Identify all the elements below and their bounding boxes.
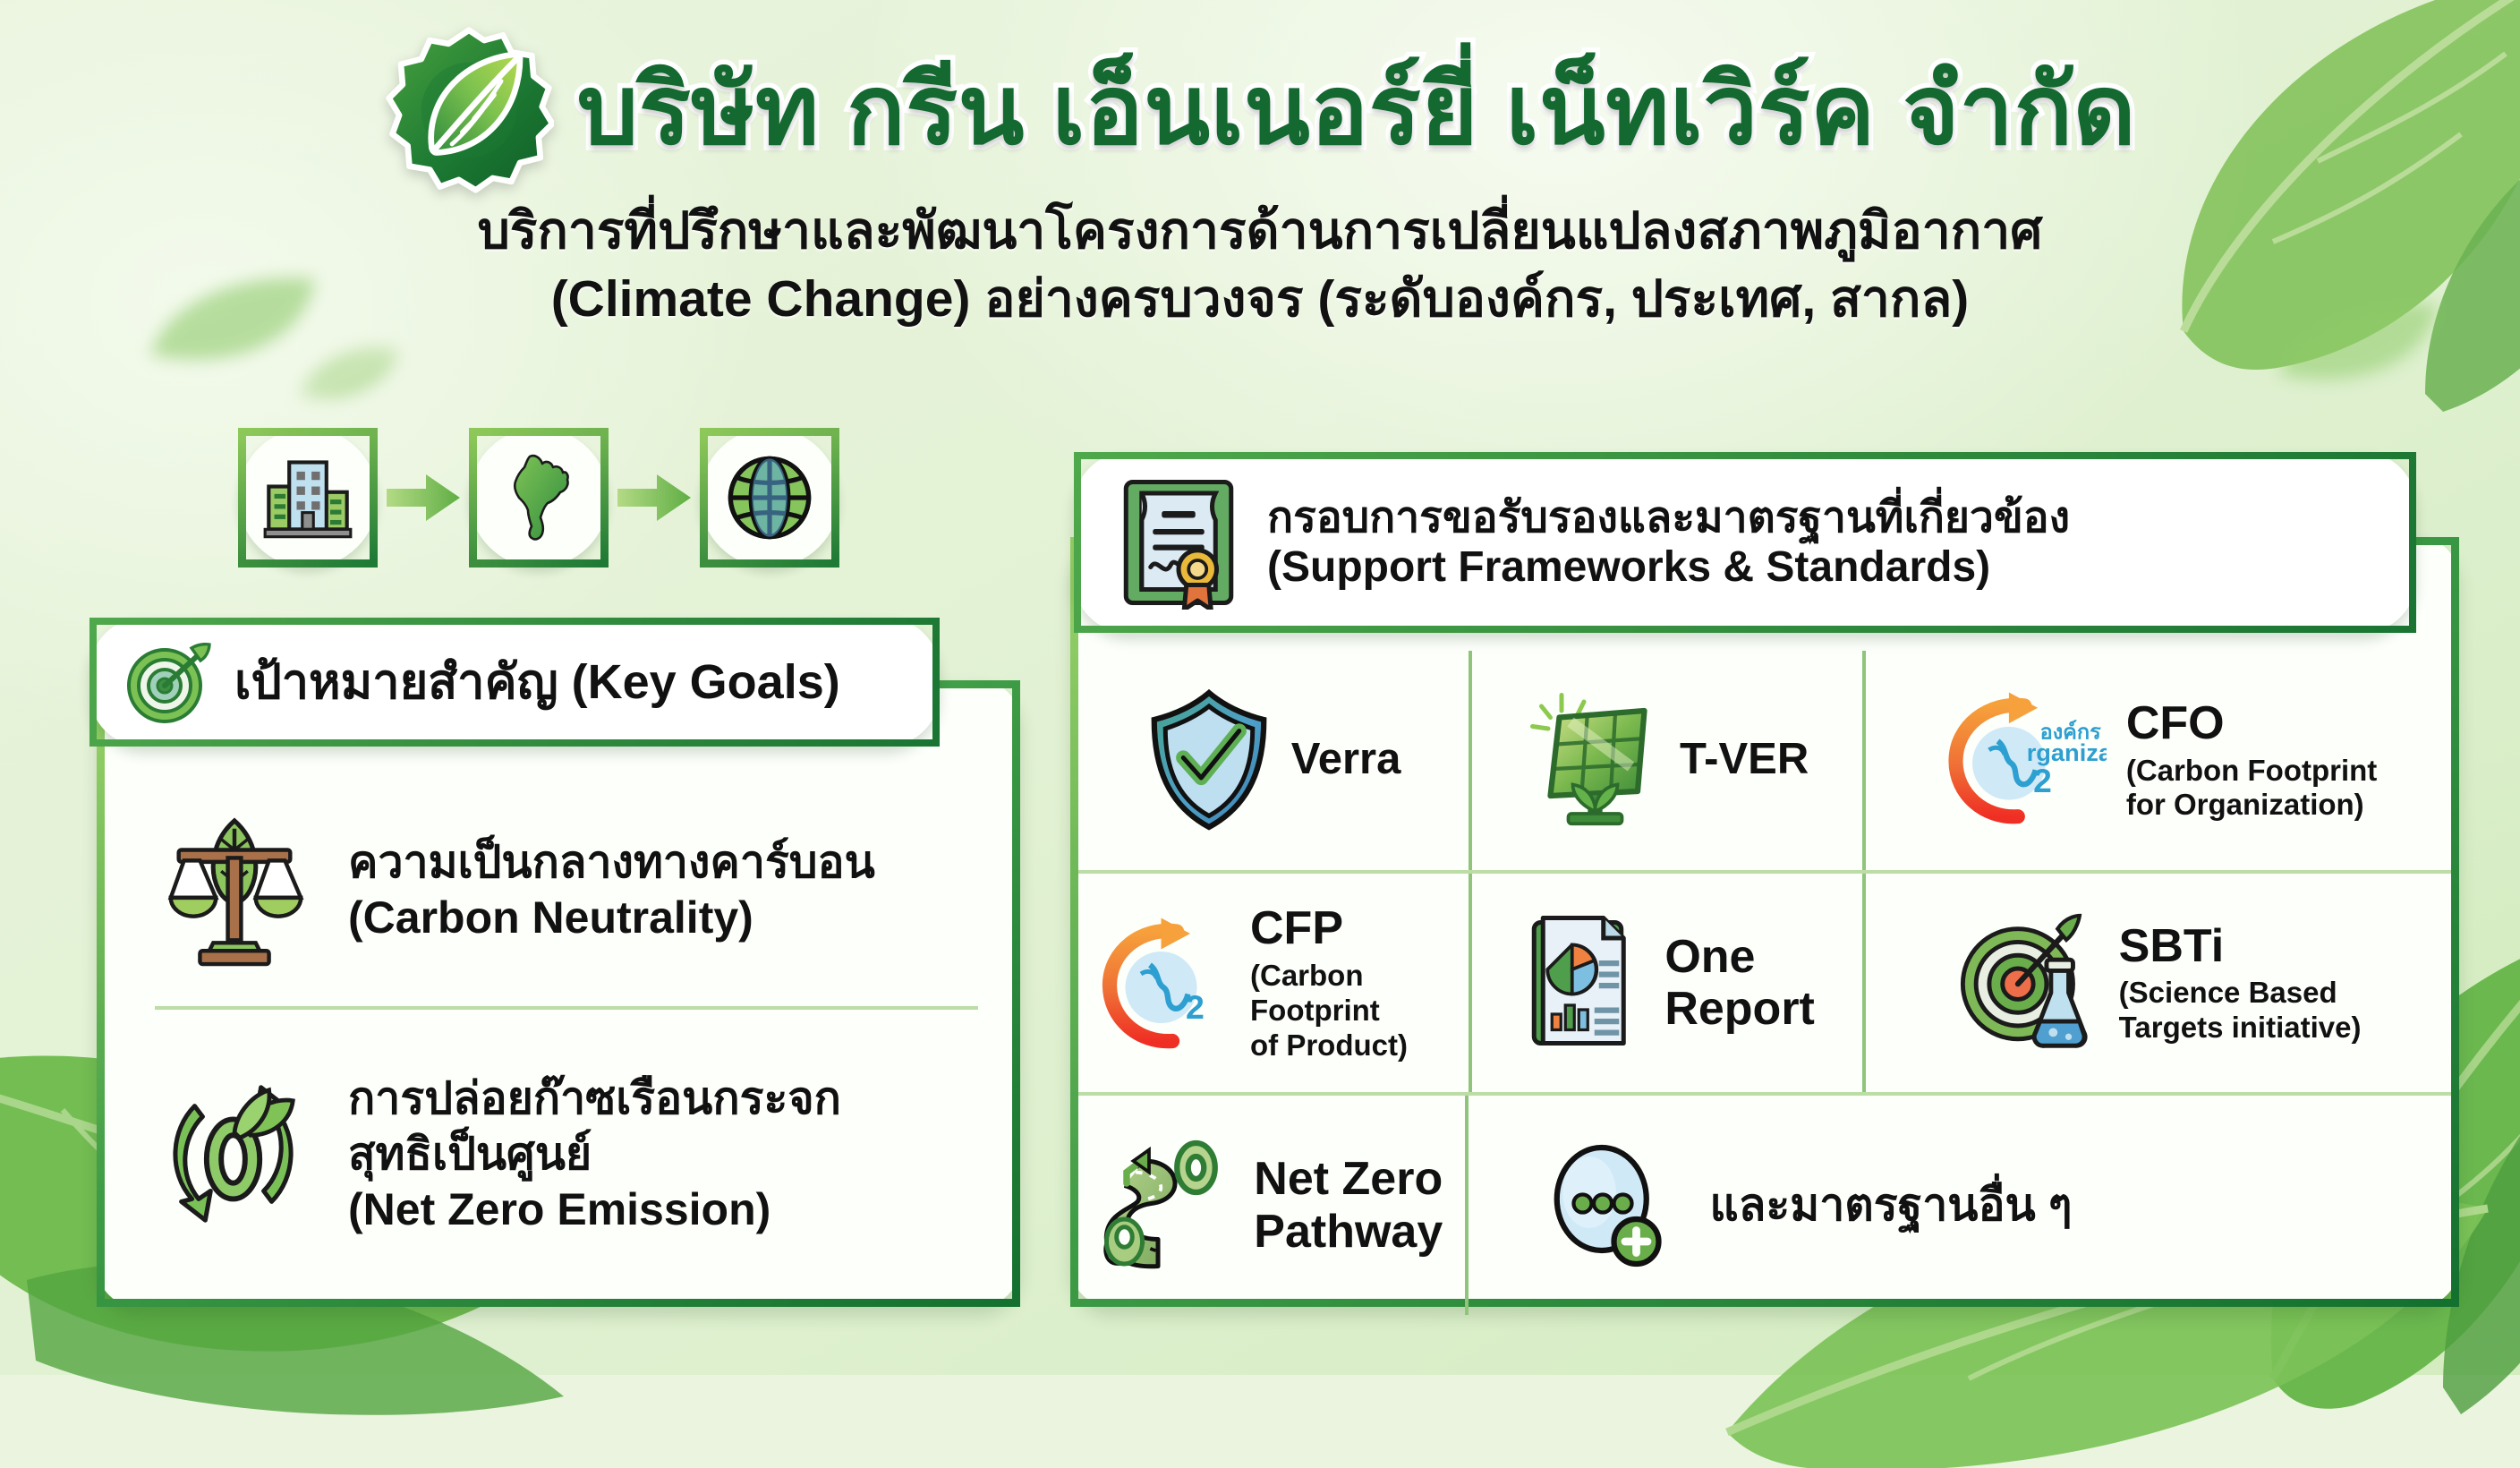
standard-cell-verra[interactable]: Verra <box>1078 651 1469 870</box>
standards-grid: Verra <box>1078 651 2451 1315</box>
svg-text:2: 2 <box>1186 988 1205 1026</box>
key-goals-card: ความเป็นกลางทางคาร์บอน (Carbon Neutralit… <box>97 680 1020 1307</box>
cfo-subtitle: (Carbon Footprint for Organization) <box>2126 754 2377 824</box>
cfo-text: CFO (Carbon Footprint for Organization) <box>2126 697 2377 823</box>
co2-organization-icon: 2 องค์กร rganization <box>1940 690 2107 830</box>
key-goals-divider <box>155 1006 978 1010</box>
key-goal-2-text: การปล่อยก๊าซเรือนกระจก สุทธิเป็นศูนย์ (N… <box>348 1071 841 1237</box>
svg-text:2: 2 <box>2033 762 2052 799</box>
target-flask-icon <box>1956 911 2099 1054</box>
globe-icon <box>723 451 816 544</box>
standards-title-line1: กรอบการขอรับรองและมาตรฐานที่เกี่ยวข้อง <box>1267 493 2070 542</box>
thailand-map-icon <box>494 451 583 544</box>
key-goal-2-line3: (Net Zero Emission) <box>348 1182 841 1237</box>
tver-title: T-VER <box>1680 736 1809 784</box>
key-goal-1-line2: (Carbon Neutrality) <box>348 890 875 945</box>
tver-text: T-VER <box>1680 736 1809 784</box>
cfp-text: CFP (Carbon Footprint of Product) <box>1250 902 1451 1063</box>
key-goals-title: เป้าหมายสำคัญ (Key Goals) <box>234 654 840 710</box>
arrow-right-icon-1 <box>385 471 462 525</box>
page-title: บริษัท กรีน เอ็นเนอร์ยี่ เน็ทเวิร์ค จำกั… <box>577 59 2136 160</box>
key-goal-item-2[interactable]: การปล่อยก๊าซเรือนกระจก สุทธิเป็นศูนย์ (N… <box>105 1037 891 1270</box>
leaf-blur-2 <box>295 340 403 412</box>
sbti-text: SBTi (Science Based Targets initiative) <box>2119 920 2362 1046</box>
co2-product-icon: 2 <box>1096 916 1230 1050</box>
cfo-icon-label-en: rganization <box>2027 739 2107 767</box>
standards-row-1: Verra <box>1078 651 2451 870</box>
scope-step-organization[interactable] <box>238 428 378 568</box>
standard-cell-net-zero-pathway[interactable]: Net Zero Pathway <box>1078 1096 1465 1315</box>
key-goal-item-1[interactable]: ความเป็นกลางทางคาร์บอน (Carbon Neutralit… <box>105 787 925 993</box>
standard-cell-tver[interactable]: T-VER <box>1469 651 1862 870</box>
cfp-subtitle: (Carbon Footprint of Product) <box>1250 959 1451 1063</box>
key-goal-2-line2: สุทธิเป็นศูนย์ <box>348 1126 841 1182</box>
target-dart-icon <box>123 637 213 727</box>
page-subtitle-line2: (Climate Change) อย่างครบวงจร (ระดับองค์… <box>0 269 2520 331</box>
net-zero-pathway-title: Net Zero Pathway <box>1254 1153 1443 1257</box>
standard-cell-one-report[interactable]: One Report <box>1469 874 1862 1093</box>
building-icon <box>261 451 354 544</box>
shield-check-icon <box>1146 688 1272 832</box>
one-report-text: One Report <box>1664 931 1815 1035</box>
certificate-icon <box>1111 475 1246 610</box>
key-goal-1-line1: ความเป็นกลางทางคาร์บอน <box>348 834 875 890</box>
standard-cell-sbti[interactable]: SBTi (Science Based Targets initiative) <box>1862 874 2451 1093</box>
standards-card: Verra <box>1070 537 2459 1307</box>
standard-cell-cfo[interactable]: 2 องค์กร rganization CFO (Carbon Footpri… <box>1862 651 2451 870</box>
scope-chain <box>238 428 839 568</box>
title-row: บริษัท กรีน เอ็นเนอร์ยี่ เน็ทเวิร์ค จำกั… <box>0 25 2520 195</box>
road-pathway-icon <box>1100 1139 1234 1273</box>
balance-scale-leaf-icon <box>155 810 314 969</box>
key-goals-header-pill[interactable]: เป้าหมายสำคัญ (Key Goals) <box>89 618 940 747</box>
key-goal-2-line1: การปล่อยก๊าซเรือนกระจก <box>348 1071 841 1126</box>
one-report-title: One Report <box>1664 931 1815 1035</box>
infographic-canvas: บริษัท กรีน เอ็นเนอร์ยี่ เน็ทเวิร์ค จำกั… <box>0 0 2520 1375</box>
standards-title-line2: (Support Frameworks & Standards) <box>1267 542 2070 592</box>
verra-title: Verra <box>1291 736 1401 784</box>
cfp-title: CFP <box>1250 902 1451 954</box>
standards-row-2: 2 CFP (Carbon Footprint of Product) <box>1078 870 2451 1093</box>
sbti-subtitle: (Science Based Targets initiative) <box>2119 976 2362 1046</box>
sbti-title: SBTi <box>2119 920 2362 972</box>
more-bubble-plus-icon <box>1540 1139 1674 1273</box>
standards-header-pill[interactable]: กรอบการขอรับรองและมาตรฐานที่เกี่ยวข้อง (… <box>1074 452 2416 633</box>
page-subtitle-line1: บริการที่ปรึกษาและพัฒนาโครงการด้านการเปล… <box>0 201 2520 263</box>
other-standards-title: และมาตรฐานอื่น ๆ <box>1710 1181 2073 1230</box>
standards-title: กรอบการขอรับรองและมาตรฐานที่เกี่ยวข้อง (… <box>1267 493 2070 592</box>
verra-text: Verra <box>1291 736 1401 784</box>
arrow-right-icon-2 <box>616 471 693 525</box>
page-header: บริษัท กรีน เอ็นเนอร์ยี่ เน็ทเวิร์ค จำกั… <box>0 25 2520 330</box>
standards-row-3: Net Zero Pathway และมาตรฐานอื่น ๆ <box>1078 1092 2451 1315</box>
row3-spacer <box>2100 1096 2451 1315</box>
net-zero-pathway-text: Net Zero Pathway <box>1254 1153 1443 1257</box>
zero-recycle-leaf-icon <box>155 1074 314 1233</box>
standard-cell-other-standards[interactable]: และมาตรฐานอื่น ๆ <box>1465 1096 2101 1315</box>
key-goal-1-text: ความเป็นกลางทางคาร์บอน (Carbon Neutralit… <box>348 834 875 945</box>
cfo-title: CFO <box>2126 697 2377 749</box>
scope-step-global[interactable] <box>700 428 839 568</box>
other-standards-text: และมาตรฐานอื่น ๆ <box>1710 1181 2073 1230</box>
solar-panel-icon <box>1526 688 1660 832</box>
standard-cell-cfp[interactable]: 2 CFP (Carbon Footprint of Product) <box>1078 874 1469 1093</box>
gear-leaf-logo-icon <box>384 25 554 195</box>
scope-step-country[interactable] <box>469 428 609 568</box>
report-document-icon <box>1520 911 1645 1054</box>
